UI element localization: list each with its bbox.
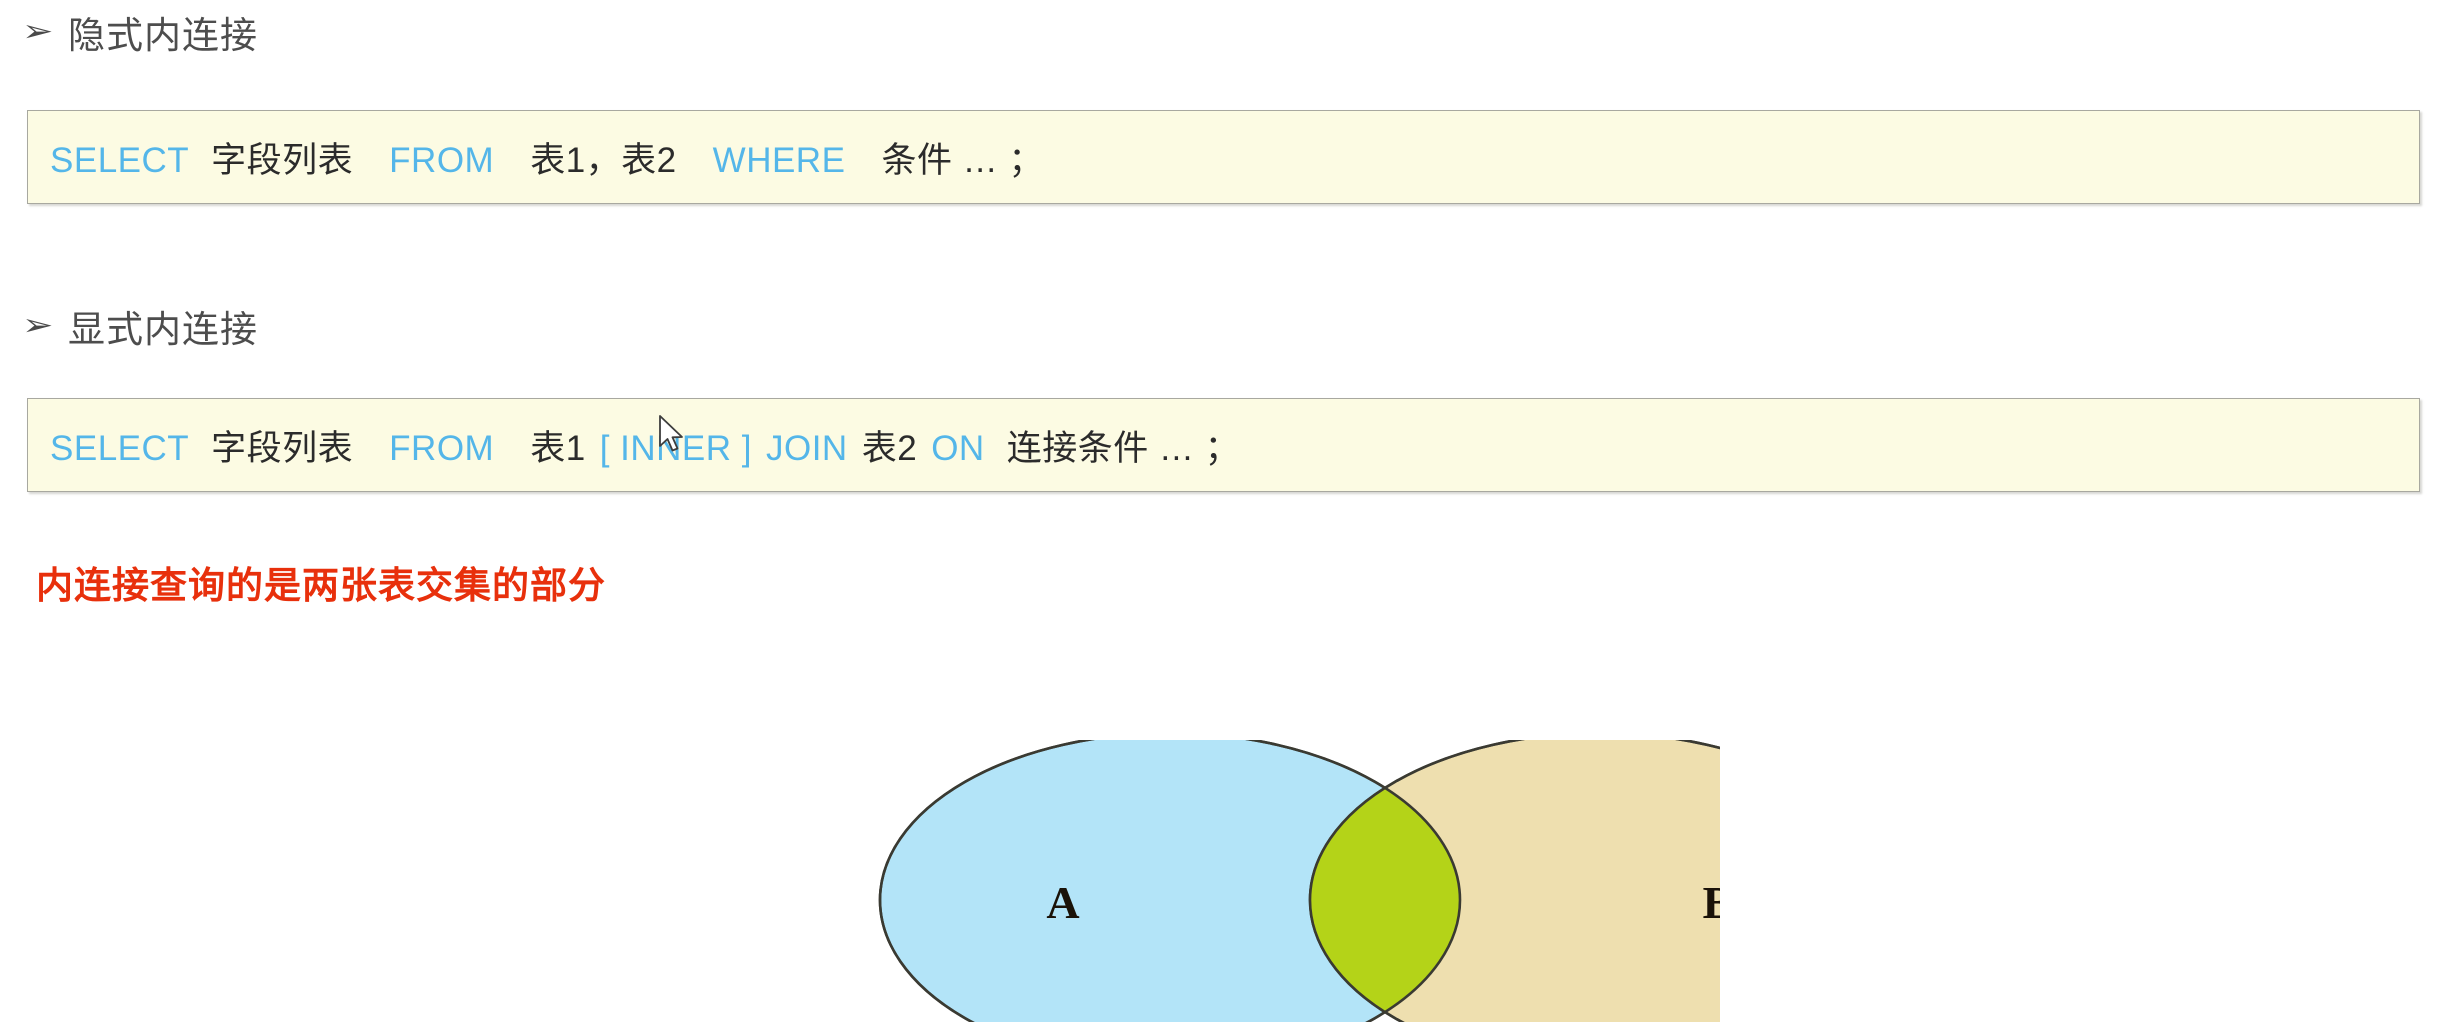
arrowhead-bullet-icon: ➢ — [22, 311, 80, 341]
heading-implicit-label: 隐式内连接 — [68, 5, 258, 59]
sql-field-list: 字段列表 — [211, 429, 353, 468]
code-block-implicit-inner-join: SELECT字段列表FROM表1，表2WHERE条件 … ； — [27, 110, 2420, 204]
sql-table-1: 表1 — [530, 429, 585, 468]
sql-keyword-on: ON — [931, 429, 985, 468]
sql-condition: 条件 … ； — [881, 141, 1043, 180]
heading-implicit-inner-join: ➢ 隐式内连接 — [22, 5, 258, 59]
sql-keyword-select: SELECT — [50, 429, 189, 468]
code-line-explicit: SELECT字段列表FROM表1[ INNER ]JOIN表2ON连接条件 … … — [28, 420, 1240, 471]
venn-label-a: A — [1046, 877, 1079, 928]
code-line-implicit: SELECT字段列表FROM表1，表2WHERE条件 … ； — [28, 132, 1044, 183]
arrowhead-bullet-icon: ➢ — [22, 17, 80, 47]
sql-optional-inner: [ INNER ] — [600, 429, 752, 468]
sql-join-condition: 连接条件 … ； — [1007, 429, 1240, 468]
sql-keyword-join: JOIN — [766, 429, 848, 468]
heading-explicit-inner-join: ➢ 显式内连接 — [22, 299, 258, 353]
heading-explicit-label: 显式内连接 — [68, 299, 258, 353]
sql-keyword-where: WHERE — [713, 141, 846, 180]
sql-keyword-from: FROM — [389, 141, 494, 180]
code-block-explicit-inner-join: SELECT字段列表FROM表1[ INNER ]JOIN表2ON连接条件 … … — [27, 398, 2420, 492]
note-inner-join-intersection: 内连接查询的是两张表交集的部分 — [36, 555, 606, 609]
venn-label-b: B — [1703, 877, 1720, 928]
sql-table-2: 表2 — [862, 429, 917, 468]
sql-table-list: 表1，表2 — [530, 141, 676, 180]
sql-keyword-from: FROM — [389, 429, 494, 468]
sql-keyword-select: SELECT — [50, 141, 189, 180]
venn-diagram-inner-join: A B — [820, 740, 1720, 1022]
sql-field-list: 字段列表 — [211, 141, 353, 180]
